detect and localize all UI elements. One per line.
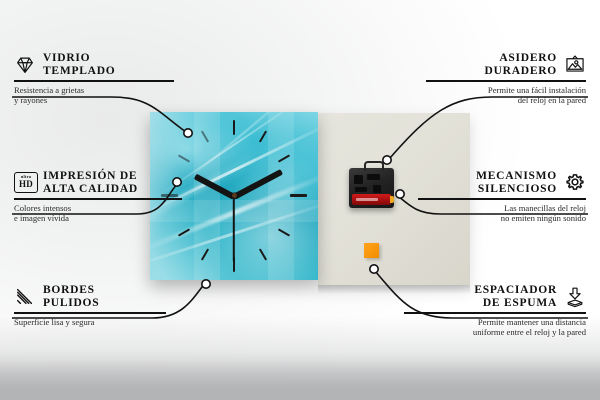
- down-arrow-pad-icon: [564, 286, 586, 308]
- callout-header: MECANISMOSILENCIOSO: [418, 170, 586, 195]
- callout-espaciador-de-espuma: ESPACIADORDE ESPUMA Permite mantener una…: [404, 284, 586, 337]
- callout-vidrio-templado: VIDRIOTEMPLADO Resistencia a grietas y r…: [14, 52, 174, 105]
- mechanism-vent: [373, 185, 381, 193]
- callout-description: Resistencia a grietas y rayones: [14, 85, 174, 106]
- callout-header: ASIDERODURADERO: [426, 52, 586, 77]
- mechanism-vent: [367, 174, 380, 180]
- callout-impresion-alta-calidad: ultra HD IMPRESIÓN DEALTA CALIDAD Colore…: [14, 170, 182, 223]
- callout-mecanismo-silencioso: MECANISMOSILENCIOSO Las manecillas del r…: [418, 170, 586, 223]
- callout-rule: [14, 312, 166, 314]
- callout-rule: [14, 198, 182, 200]
- callout-bordes-pulidos: BORDESPULIDOS Superficie lisa y segura: [14, 284, 166, 327]
- callout-title: VIDRIOTEMPLADO: [43, 52, 115, 77]
- callout-description: Permite mantener una distancia uniforme …: [404, 317, 586, 338]
- callout-description: Colores intensos e imagen vívida: [14, 203, 182, 224]
- callout-header: ESPACIADORDE ESPUMA: [404, 284, 586, 309]
- callout-title: MECANISMOSILENCIOSO: [476, 170, 557, 195]
- callout-rule: [426, 80, 586, 82]
- callout-title: BORDESPULIDOS: [43, 284, 99, 309]
- battery-label: [356, 198, 378, 201]
- clock-second-hand: [233, 196, 235, 262]
- foam-spacer: [364, 243, 379, 258]
- callout-title: ESPACIADORDE ESPUMA: [474, 284, 557, 309]
- callout-description: Permite una fácil instalación del reloj …: [426, 85, 586, 106]
- polished-edges-icon: [14, 286, 36, 308]
- callout-title: ASIDERODURADERO: [485, 52, 557, 77]
- mechanism-vent: [354, 175, 363, 184]
- ultra-hd-badge-icon: ultra HD: [14, 172, 36, 194]
- callout-asidero-duradero: ASIDERODURADERO Permite una fácil instal…: [426, 52, 586, 105]
- callout-header: VIDRIOTEMPLADO: [14, 52, 174, 77]
- diamond-icon: [14, 54, 36, 76]
- callout-description: Superficie lisa y segura: [14, 317, 166, 327]
- gear-icon: [564, 172, 586, 194]
- callout-rule: [404, 312, 586, 314]
- callout-header: BORDESPULIDOS: [14, 284, 166, 309]
- mechanism-vent: [355, 187, 367, 192]
- callout-header: ultra HD IMPRESIÓN DEALTA CALIDAD: [14, 170, 182, 195]
- clock-center-pin: [232, 193, 237, 198]
- mechanism-hanger-icon: [364, 161, 384, 171]
- infographic-canvas: VIDRIOTEMPLADO Resistencia a grietas y r…: [0, 0, 600, 400]
- callout-rule: [14, 80, 174, 82]
- ultra-hd-main-text: HD: [19, 180, 33, 189]
- callout-title: IMPRESIÓN DEALTA CALIDAD: [43, 170, 138, 195]
- clock-mechanism: [349, 168, 394, 208]
- callout-rule: [418, 198, 586, 200]
- clock-tick-12: [233, 120, 235, 135]
- clock-tick-3: [290, 194, 307, 197]
- mechanism-battery: [352, 194, 391, 205]
- callout-description: Las manecillas del reloj no emiten ningú…: [418, 203, 586, 224]
- framed-picture-hanger-icon: [564, 54, 586, 76]
